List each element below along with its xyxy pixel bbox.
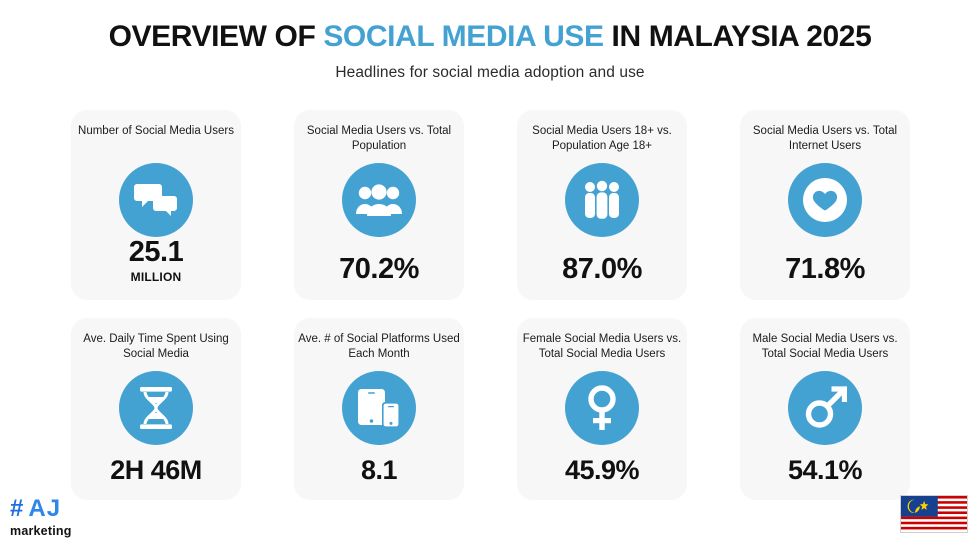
stat-card-value: 8.1 — [361, 457, 397, 484]
stat-card-value-wrap: 70.2% — [339, 255, 419, 284]
stat-card-daily-time-spent: Ave. Daily Time Spent Using Social Media… — [71, 318, 241, 500]
male-symbol-icon — [788, 371, 862, 445]
stat-card-value: 45.9% — [565, 457, 639, 484]
stat-card-label: Male Social Media Users vs. Total Social… — [740, 332, 910, 362]
stat-card-value-wrap: 25.1 MILLION — [129, 238, 183, 284]
hourglass-icon — [119, 371, 193, 445]
aj-marketing-logo: # AJ marketing — [10, 497, 72, 538]
female-symbol-icon — [565, 371, 639, 445]
stat-card-value: 25.1 — [129, 238, 183, 267]
stat-card-value-wrap: 2H 46M — [110, 457, 202, 484]
stat-card-label: Ave. # of Social Platforms Used Each Mon… — [294, 332, 464, 362]
stat-card-value: 71.8% — [785, 255, 865, 284]
stat-card-label: Number of Social Media Users — [74, 124, 238, 154]
stat-card-users-18plus: Social Media Users 18+ vs. Population Ag… — [517, 110, 687, 300]
stat-card-value-unit: MILLION — [129, 270, 183, 284]
title-accent: SOCIAL MEDIA USE — [323, 20, 603, 53]
stat-card-female-users: Female Social Media Users vs. Total Soci… — [517, 318, 687, 500]
stats-grid: Number of Social Media Users 25.1 MILLIO… — [71, 110, 919, 500]
hash-icon: # — [10, 497, 23, 521]
stat-card-value-wrap: 87.0% — [562, 255, 642, 284]
group-people-icon — [342, 163, 416, 237]
title-suffix: IN MALAYSIA 2025 — [604, 20, 872, 53]
stat-card-value: 70.2% — [339, 255, 419, 284]
stat-card-label: Social Media Users vs. Total Population — [294, 124, 464, 154]
page-subtitle: Headlines for social media adoption and … — [0, 64, 980, 82]
logo-wordmark: # AJ — [10, 497, 72, 521]
stat-card-users-vs-population: Social Media Users vs. Total Population … — [294, 110, 464, 300]
three-adults-icon — [565, 163, 639, 237]
stat-card-label: Social Media Users vs. Total Internet Us… — [740, 124, 910, 154]
heart-ring-icon — [788, 163, 862, 237]
logo-tagline: marketing — [10, 525, 72, 538]
stat-card-value: 54.1% — [788, 457, 862, 484]
chat-bubbles-icon — [119, 163, 193, 237]
stat-card-label: Ave. Daily Time Spent Using Social Media — [71, 332, 241, 362]
stat-card-label: Social Media Users 18+ vs. Population Ag… — [517, 124, 687, 154]
stat-card-value-wrap: 8.1 — [361, 457, 397, 484]
malaysia-flag-icon — [900, 495, 968, 533]
stat-card-platforms-per-month: Ave. # of Social Platforms Used Each Mon… — [294, 318, 464, 500]
stat-card-users-vs-internet-users: Social Media Users vs. Total Internet Us… — [740, 110, 910, 300]
page-title: OVERVIEW OF SOCIAL MEDIA USE IN MALAYSIA… — [0, 20, 980, 53]
stat-card-value: 87.0% — [562, 255, 642, 284]
stat-card-value: 2H 46M — [110, 457, 202, 484]
tablet-phone-icon — [342, 371, 416, 445]
stat-card-value-wrap: 71.8% — [785, 255, 865, 284]
stat-card-label: Female Social Media Users vs. Total Soci… — [517, 332, 687, 362]
stat-card-male-users: Male Social Media Users vs. Total Social… — [740, 318, 910, 500]
title-prefix: OVERVIEW OF — [109, 20, 324, 53]
stat-card-social-media-users: Number of Social Media Users 25.1 MILLIO… — [71, 110, 241, 300]
stat-card-value-wrap: 54.1% — [788, 457, 862, 484]
logo-initials: AJ — [28, 497, 61, 521]
page-header: OVERVIEW OF SOCIAL MEDIA USE IN MALAYSIA… — [0, 0, 980, 82]
stat-card-value-wrap: 45.9% — [565, 457, 639, 484]
